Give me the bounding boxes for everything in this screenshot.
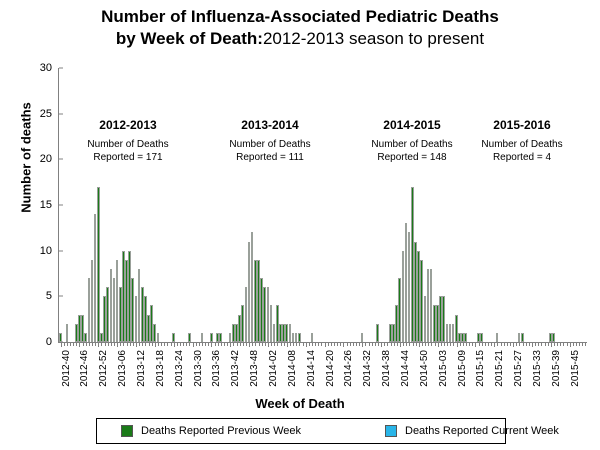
x-axis-tick-mark <box>186 342 187 346</box>
x-axis-tick-mark <box>535 342 536 346</box>
x-axis-tick-mark <box>519 342 520 346</box>
x-axis-tick-mark <box>221 342 222 346</box>
x-axis-tick-mark <box>560 342 561 346</box>
x-axis-tick-mark <box>510 342 511 346</box>
x-axis-tick-mark <box>567 342 568 346</box>
x-axis-tick-mark <box>145 342 146 346</box>
x-axis-tick-mark <box>343 342 344 347</box>
x-axis-tick-mark <box>453 342 454 346</box>
x-axis-tick-mark <box>230 342 231 347</box>
x-axis-tick-mark <box>356 342 357 346</box>
y-axis-tick-label: 25 <box>40 108 59 120</box>
x-axis-tick-mark <box>268 342 269 347</box>
chart-title-line2-normal: 2012-2013 season to present <box>263 29 484 48</box>
x-axis-tick-label: 2013-42 <box>230 350 241 387</box>
x-axis-tick-mark <box>444 342 445 346</box>
x-axis-tick-mark <box>233 342 234 346</box>
x-axis-tick-mark <box>79 342 80 347</box>
x-axis-tick-mark <box>215 342 216 346</box>
x-axis-tick-mark <box>504 342 505 346</box>
x-axis-tick-label: 2015-27 <box>513 350 524 387</box>
x-axis-tick-mark <box>532 342 533 347</box>
x-axis-tick-mark <box>296 342 297 346</box>
x-axis-tick-mark <box>365 342 366 346</box>
x-axis-tick-mark <box>92 342 93 346</box>
x-axis-tick-mark <box>450 342 451 346</box>
season-annotation-2013-2014: 2013-2014 Number of Deaths Reported = 11… <box>205 118 335 164</box>
y-axis-tick-label: 10 <box>40 245 59 257</box>
y-axis-title: Number of deaths <box>19 78 34 238</box>
season-deaths-line1: Number of Deaths <box>205 138 335 151</box>
x-axis-tick-mark <box>177 342 178 346</box>
y-axis-tick-label: 15 <box>40 199 59 211</box>
x-axis-tick-mark <box>516 342 517 346</box>
x-axis-tick-mark <box>152 342 153 346</box>
x-axis-tick-mark <box>435 342 436 346</box>
x-axis-tick-mark <box>413 342 414 346</box>
x-axis-tick-mark <box>441 342 442 346</box>
x-axis-ticks <box>59 342 587 348</box>
x-axis-tick-mark <box>149 342 150 346</box>
x-axis-tick-mark <box>61 342 62 347</box>
x-axis-tick-mark <box>293 342 294 346</box>
legend-item-current-week: Deaths Reported Current Week <box>385 425 559 437</box>
x-axis-tick-mark <box>309 342 310 346</box>
legend-swatch-icon <box>121 425 133 437</box>
x-axis-tick-mark <box>400 342 401 347</box>
x-axis-tick-mark <box>457 342 458 347</box>
x-axis-tick-mark <box>475 342 476 347</box>
x-axis-tick-mark <box>281 342 282 346</box>
x-axis-tick-mark <box>513 342 514 347</box>
x-axis-tick-mark <box>557 342 558 346</box>
plot-area: 051015202530 2012-402012-462012-522013-0… <box>58 68 587 343</box>
x-axis-tick-mark <box>218 342 219 346</box>
x-axis-tick-mark <box>120 342 121 346</box>
x-axis-tick-label: 2015-15 <box>475 350 486 387</box>
x-axis-tick-mark <box>287 342 288 347</box>
x-axis-tick-mark <box>142 342 143 346</box>
x-axis-tick-mark <box>164 342 165 346</box>
season-deaths-line2: Reported = 4 <box>457 151 587 164</box>
x-axis-tick-mark <box>347 342 348 346</box>
x-axis-tick-label: 2014-50 <box>419 350 430 387</box>
x-axis-tick-mark <box>403 342 404 346</box>
x-axis-tick-mark <box>243 342 244 346</box>
legend-label: Deaths Reported Previous Week <box>141 425 301 437</box>
x-axis-tick-mark <box>98 342 99 347</box>
x-axis-tick-mark <box>255 342 256 346</box>
x-axis-tick-mark <box>171 342 172 346</box>
x-axis-tick-mark <box>375 342 376 346</box>
x-axis-tick-mark <box>252 342 253 346</box>
x-axis-tick-mark <box>381 342 382 347</box>
x-axis-tick-label: 2012-40 <box>61 350 72 387</box>
x-axis-tick-mark <box>472 342 473 346</box>
x-axis-tick-mark <box>199 342 200 346</box>
x-axis-tick-label: 2013-06 <box>117 350 128 387</box>
x-axis-tick-mark <box>202 342 203 346</box>
x-axis-tick-label: 2015-39 <box>551 350 562 387</box>
x-axis-tick-label: 2012-46 <box>79 350 90 387</box>
bar-series-group <box>59 68 587 342</box>
x-axis-tick-mark <box>274 342 275 346</box>
x-axis-tick-label: 2014-32 <box>362 350 373 387</box>
x-axis-tick-mark <box>419 342 420 347</box>
x-axis-tick-mark <box>224 342 225 346</box>
x-axis-tick-mark <box>353 342 354 346</box>
x-axis-tick-mark <box>523 342 524 346</box>
x-axis-tick-mark <box>271 342 272 346</box>
season-annotation-2015-2016: 2015-2016 Number of Deaths Reported = 4 <box>457 118 587 164</box>
x-axis-tick-mark <box>167 342 168 346</box>
x-axis-tick-mark <box>114 342 115 346</box>
x-axis-tick-mark <box>312 342 313 346</box>
x-axis-tick-mark <box>105 342 106 346</box>
x-axis-tick-mark <box>526 342 527 346</box>
x-axis-tick-mark <box>127 342 128 346</box>
bar-slot <box>583 68 586 342</box>
x-axis-tick-mark <box>306 342 307 347</box>
x-axis-tick-mark <box>485 342 486 346</box>
x-axis-tick-mark <box>425 342 426 346</box>
season-label: 2015-2016 <box>457 118 587 134</box>
x-axis-tick-mark <box>117 342 118 347</box>
x-axis-tick-mark <box>563 342 564 346</box>
x-axis-tick-mark <box>585 342 586 346</box>
x-axis-tick-mark <box>482 342 483 346</box>
x-axis-tick-mark <box>369 342 370 346</box>
x-axis-tick-mark <box>325 342 326 347</box>
season-deaths-line2: Reported = 111 <box>205 151 335 164</box>
season-annotation-2012-2013: 2012-2013 Number of Deaths Reported = 17… <box>63 118 193 164</box>
x-axis-tick-mark <box>262 342 263 346</box>
x-axis-tick-mark <box>196 342 197 346</box>
x-axis-tick-mark <box>227 342 228 346</box>
x-axis-tick-mark <box>409 342 410 346</box>
x-axis-tick-mark <box>303 342 304 346</box>
season-deaths-line1: Number of Deaths <box>457 138 587 151</box>
x-axis-tick-mark <box>240 342 241 346</box>
season-label: 2013-2014 <box>205 118 335 134</box>
x-axis-tick-mark <box>76 342 77 346</box>
chart-canvas: Number of Influenza-Associated Pediatric… <box>0 0 600 450</box>
x-axis-tick-mark <box>318 342 319 346</box>
x-axis-tick-mark <box>529 342 530 346</box>
x-axis-tick-mark <box>265 342 266 346</box>
x-axis-tick-mark <box>469 342 470 346</box>
y-axis-tick-label: 30 <box>40 62 59 74</box>
x-axis-tick-mark <box>350 342 351 346</box>
x-axis-tick-mark <box>161 342 162 346</box>
x-axis-tick-label: 2013-12 <box>136 350 147 387</box>
x-axis-tick-mark <box>89 342 90 346</box>
x-axis-tick-mark <box>299 342 300 346</box>
x-axis-tick-mark <box>460 342 461 346</box>
x-axis-tick-label: 2013-24 <box>174 350 185 387</box>
legend-label: Deaths Reported Current Week <box>405 425 559 437</box>
x-axis-tick-label: 2015-33 <box>532 350 543 387</box>
y-axis-tick-label: 20 <box>40 153 59 165</box>
x-axis-tick-mark <box>189 342 190 346</box>
x-axis-tick-mark <box>290 342 291 346</box>
x-axis-tick-label: 2014-02 <box>268 350 279 387</box>
x-axis-tick-mark <box>359 342 360 346</box>
x-axis-title: Week of Death <box>0 396 600 411</box>
season-label: 2012-2013 <box>63 118 193 134</box>
x-axis-tick-mark <box>86 342 87 346</box>
legend-item-previous-week: Deaths Reported Previous Week <box>121 425 301 437</box>
x-axis-tick-mark <box>573 342 574 346</box>
x-axis-tick-label: 2014-14 <box>306 350 317 387</box>
x-axis-tick-mark <box>422 342 423 346</box>
x-axis-tick-mark <box>108 342 109 346</box>
x-axis-tick-mark <box>64 342 65 346</box>
x-axis-tick-mark <box>130 342 131 346</box>
x-axis-tick-mark <box>579 342 580 346</box>
x-axis-tick-mark <box>331 342 332 346</box>
x-axis-tick-label: 2014-08 <box>287 350 298 387</box>
x-axis-tick-label: 2015-45 <box>570 350 581 387</box>
legend-swatch-icon <box>385 425 397 437</box>
x-axis-tick-mark <box>321 342 322 346</box>
chart-legend: Deaths Reported Previous Week Deaths Rep… <box>96 418 506 444</box>
x-axis-tick-mark <box>488 342 489 346</box>
x-axis-tick-mark <box>183 342 184 346</box>
x-axis-tick-mark <box>237 342 238 346</box>
season-deaths-line2: Reported = 171 <box>63 151 193 164</box>
x-axis-tick-mark <box>582 342 583 346</box>
x-axis-tick-mark <box>328 342 329 346</box>
x-axis-tick-mark <box>545 342 546 346</box>
x-axis-tick-mark <box>548 342 549 346</box>
x-axis-tick-mark <box>123 342 124 346</box>
x-axis-tick-mark <box>67 342 68 346</box>
x-axis-tick-mark <box>139 342 140 346</box>
x-axis-tick-mark <box>428 342 429 346</box>
y-axis-tick-label: 5 <box>46 290 59 302</box>
x-axis-tick-mark <box>494 342 495 347</box>
x-axis-tick-mark <box>497 342 498 346</box>
x-axis-tick-label: 2013-18 <box>155 350 166 387</box>
x-axis-tick-mark <box>397 342 398 346</box>
x-axis-tick-mark <box>111 342 112 346</box>
chart-title-line1: Number of Influenza-Associated Pediatric… <box>0 6 600 28</box>
x-axis-tick-mark <box>431 342 432 346</box>
x-axis-tick-mark <box>337 342 338 346</box>
season-deaths-line1: Number of Deaths <box>63 138 193 151</box>
x-axis-tick-mark <box>205 342 206 346</box>
x-axis-tick-mark <box>277 342 278 346</box>
x-axis-tick-label: 2014-38 <box>381 350 392 387</box>
x-axis-tick-label: 2013-48 <box>249 350 260 387</box>
x-axis-tick-label: 2015-21 <box>494 350 505 387</box>
x-axis-tick-mark <box>463 342 464 346</box>
chart-title: Number of Influenza-Associated Pediatric… <box>0 6 600 50</box>
x-axis-tick-mark <box>466 342 467 346</box>
x-axis-tick-mark <box>133 342 134 346</box>
x-axis-tick-mark <box>384 342 385 346</box>
x-axis-tick-label: 2013-36 <box>211 350 222 387</box>
x-axis-tick-mark <box>174 342 175 347</box>
x-axis-tick-mark <box>378 342 379 346</box>
x-axis-tick-mark <box>208 342 209 346</box>
x-axis-tick-mark <box>83 342 84 346</box>
x-axis-tick-mark <box>570 342 571 347</box>
x-axis-tick-mark <box>507 342 508 346</box>
chart-title-line2: by Week of Death:2012-2013 season to pre… <box>0 28 600 50</box>
x-axis-tick-mark <box>340 342 341 346</box>
x-axis-tick-mark <box>438 342 439 347</box>
x-axis-tick-mark <box>538 342 539 346</box>
x-axis-tick-mark <box>541 342 542 346</box>
x-axis-tick-label: 2014-44 <box>400 350 411 387</box>
x-axis-tick-mark <box>155 342 156 347</box>
x-axis-tick-mark <box>447 342 448 346</box>
x-axis-tick-label: 2014-20 <box>325 350 336 387</box>
x-axis-tick-mark <box>362 342 363 347</box>
x-axis-tick-label: 2012-52 <box>98 350 109 387</box>
x-axis-tick-mark <box>284 342 285 346</box>
x-axis-tick-mark <box>394 342 395 346</box>
x-axis-tick-mark <box>246 342 247 346</box>
x-axis-tick-mark <box>136 342 137 347</box>
x-axis-tick-mark <box>180 342 181 346</box>
x-axis-tick-mark <box>416 342 417 346</box>
x-axis-tick-mark <box>70 342 71 346</box>
x-axis-tick-mark <box>315 342 316 346</box>
x-axis-tick-label: 2014-26 <box>343 350 354 387</box>
x-axis-tick-mark <box>73 342 74 346</box>
x-axis-tick-mark <box>551 342 552 347</box>
x-axis-tick-mark <box>554 342 555 346</box>
x-axis-tick-mark <box>95 342 96 346</box>
y-axis-tick-label: 0 <box>46 336 59 348</box>
x-axis-tick-mark <box>101 342 102 346</box>
x-axis-tick-mark <box>211 342 212 347</box>
x-axis-tick-mark <box>391 342 392 346</box>
x-axis-tick-mark <box>576 342 577 346</box>
x-axis-tick-label: 2015-09 <box>457 350 468 387</box>
x-axis-tick-mark <box>491 342 492 346</box>
x-axis-tick-mark <box>387 342 388 346</box>
x-axis-tick-label: 2013-30 <box>193 350 204 387</box>
x-axis-tick-label: 2015-03 <box>438 350 449 387</box>
x-axis-tick-mark <box>334 342 335 346</box>
x-axis-tick-mark <box>249 342 250 347</box>
x-axis-tick-mark <box>158 342 159 346</box>
x-axis-tick-mark <box>479 342 480 346</box>
x-axis-tick-mark <box>406 342 407 346</box>
x-axis-tick-mark <box>372 342 373 346</box>
chart-title-line2-bold: by Week of Death: <box>116 29 263 48</box>
x-axis-tick-mark <box>259 342 260 346</box>
x-axis-tick-mark <box>193 342 194 347</box>
x-axis-tick-mark <box>501 342 502 346</box>
